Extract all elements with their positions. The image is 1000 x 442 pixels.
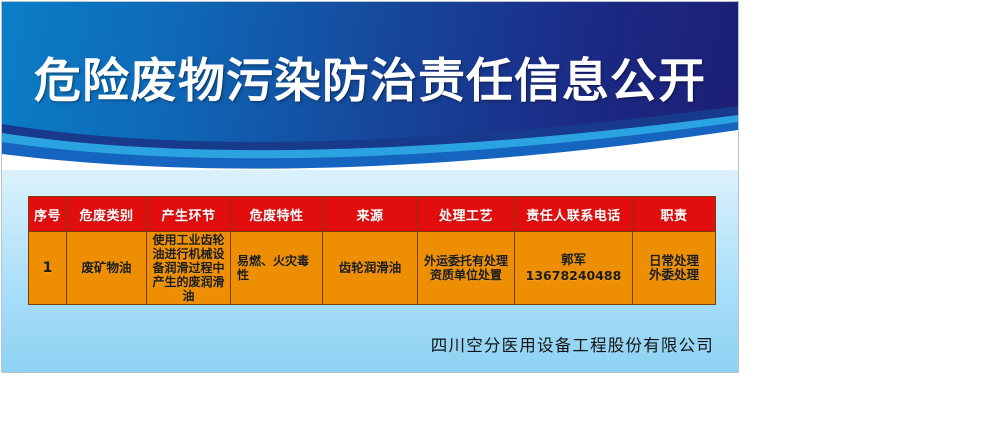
column-header-stage: 产生环节 [147, 197, 231, 232]
poster-board: 危险废物污染防治责任信息公开 序号 危废类别 产生环节 危废特性 来源 处理工艺… [2, 2, 738, 372]
header-banner: 危险废物污染防治责任信息公开 [2, 2, 738, 170]
hazardous-waste-table: 序号 危废类别 产生环节 危废特性 来源 处理工艺 责任人联系电话 职责 1 废… [28, 196, 716, 305]
column-header-process: 处理工艺 [418, 197, 515, 232]
cell-characteristics: 易燃、火灾毒性 [231, 232, 323, 305]
cell-category: 废矿物油 [67, 232, 147, 305]
table-header-row: 序号 危废类别 产生环节 危废特性 来源 处理工艺 责任人联系电话 职责 [29, 197, 716, 232]
column-header-duty: 职责 [633, 197, 716, 232]
column-header-source: 来源 [323, 197, 418, 232]
cell-source: 齿轮润滑油 [323, 232, 418, 305]
column-header-characteristics: 危废特性 [231, 197, 323, 232]
cell-contact: 郭军13678240488 [515, 232, 633, 305]
cell-duty: 日常处理 外委处理 [633, 232, 716, 305]
contact-phone: 13678240488 [526, 268, 622, 283]
cell-seq: 1 [29, 232, 67, 305]
column-header-category: 危废类别 [67, 197, 147, 232]
table-row: 1 废矿物油 使用工业齿轮油进行机械设备润滑过程中产生的废润滑油 易燃、火灾毒性… [29, 232, 716, 305]
company-name-footer: 四川空分医用设备工程股份有限公司 [2, 332, 714, 356]
contact-name: 郭军 [561, 252, 586, 267]
column-header-contact: 责任人联系电话 [515, 197, 633, 232]
page-title: 危险废物污染防治责任信息公开 [2, 50, 738, 114]
column-header-seq: 序号 [29, 197, 67, 232]
cell-stage: 使用工业齿轮油进行机械设备润滑过程中产生的废润滑油 [147, 232, 231, 305]
hazardous-waste-table-wrapper: 序号 危废类别 产生环节 危废特性 来源 处理工艺 责任人联系电话 职责 1 废… [28, 196, 715, 305]
cell-process: 外运委托有处理资质单位处置 [418, 232, 515, 305]
